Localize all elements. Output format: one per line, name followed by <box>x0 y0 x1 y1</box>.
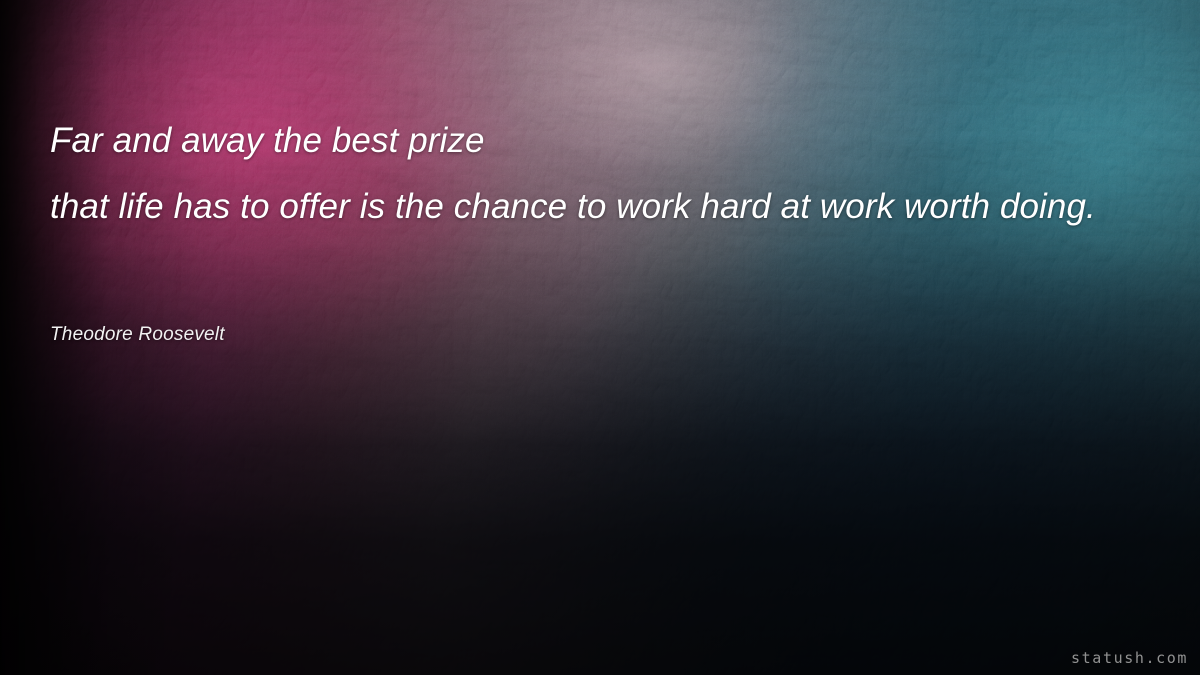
site-watermark: statush.com <box>1071 649 1188 667</box>
quote-card: Far and away the best prize that life ha… <box>0 0 1200 675</box>
quote-line-2: that life has to offer is the chance to … <box>50 174 1180 240</box>
quote-author: Theodore Roosevelt <box>50 322 225 348</box>
card-content: Far and away the best prize that life ha… <box>0 0 1200 675</box>
quote-text-block: Far and away the best prize that life ha… <box>50 108 1180 240</box>
quote-line-1: Far and away the best prize <box>50 108 1180 174</box>
